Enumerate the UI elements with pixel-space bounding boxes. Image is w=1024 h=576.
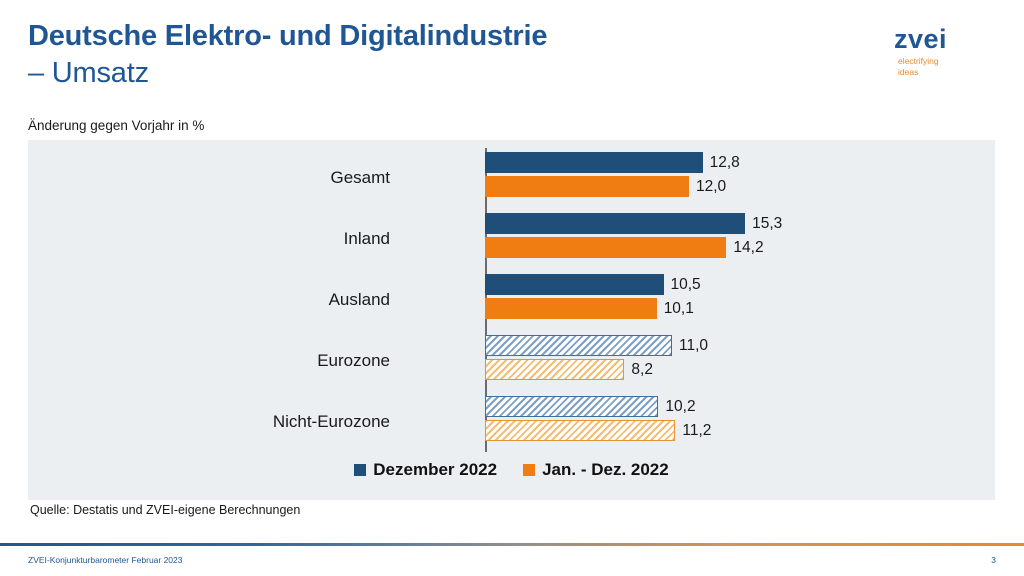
logo-tagline-line-2: ideas [898,67,996,78]
chart-unit-note: Änderung gegen Vorjahr in % [28,118,204,133]
chart-bar-value-label: 14,2 [733,237,763,258]
chart-bar [485,237,726,258]
chart-bar [485,152,703,173]
chart-bar-value-label: 12,0 [696,176,726,197]
chart-legend-swatch-icon [354,464,366,476]
chart-category-row: Nicht-Eurozone10,211,2 [28,394,995,450]
chart-bar-group: 10,211,2 [485,394,995,450]
chart-category-row: Gesamt12,812,0 [28,150,995,206]
chart-category-label: Ausland [28,290,390,310]
chart-bar [485,213,745,234]
chart-category-label: Eurozone [28,351,390,371]
chart-legend-item[interactable]: Jan. - Dez. 2022 [523,460,669,480]
chart-category-row: Inland15,314,2 [28,211,995,267]
chart-bar-value-label: 10,2 [665,396,695,417]
chart-plot-area: Gesamt12,812,0Inland15,314,2Ausland10,51… [28,140,995,458]
chart-bar [485,359,624,380]
chart-category-label: Gesamt [28,168,390,188]
footer-divider [0,543,1024,546]
chart-bar-group: 10,510,1 [485,272,995,328]
zvei-logo: zvei electrifying ideas [876,26,996,77]
chart-bar [485,420,675,441]
logo-wordmark: zvei [876,26,996,53]
chart-category-row: Ausland10,510,1 [28,272,995,328]
logo-tagline-line-1: electrifying [898,56,996,67]
footer-document-title: ZVEI-Konjunkturbarometer Februar 2023 [28,555,183,565]
chart-bar [485,396,658,417]
chart-category-label: Inland [28,229,390,249]
logo-tagline: electrifying ideas [876,56,996,77]
chart-bar-value-label: 15,3 [752,213,782,234]
chart-bar [485,176,689,197]
chart-category-label: Nicht-Eurozone [28,412,390,432]
chart-bar-group: 12,812,0 [485,150,995,206]
chart-bar-group: 11,08,2 [485,333,995,389]
footer-page-number: 3 [991,555,996,565]
chart-bar-value-label: 11,2 [682,420,711,441]
chart-legend: Dezember 2022Jan. - Dez. 2022 [28,460,995,480]
chart-bar-value-label: 10,5 [671,274,701,295]
chart-legend-swatch-icon [523,464,535,476]
chart-legend-label: Dezember 2022 [373,460,497,480]
chart-legend-item[interactable]: Dezember 2022 [354,460,497,480]
page-title-line-2: – Umsatz [28,55,668,92]
chart-bar-group: 15,314,2 [485,211,995,267]
chart-bar-value-label: 8,2 [631,359,653,380]
chart-panel: Gesamt12,812,0Inland15,314,2Ausland10,51… [28,140,995,500]
chart-bar-value-label: 12,8 [710,152,740,173]
chart-bar-value-label: 10,1 [664,298,694,319]
chart-bar [485,298,657,319]
chart-category-row: Eurozone11,08,2 [28,333,995,389]
chart-legend-label: Jan. - Dez. 2022 [542,460,669,480]
chart-bar [485,335,672,356]
chart-bar [485,274,664,295]
source-note: Quelle: Destatis und ZVEI-eigene Berechn… [30,503,300,517]
chart-bar-value-label: 11,0 [679,335,708,356]
page-title: Deutsche Elektro- und Digitalindustrie –… [28,18,668,92]
page-title-line-1: Deutsche Elektro- und Digitalindustrie [28,20,547,52]
